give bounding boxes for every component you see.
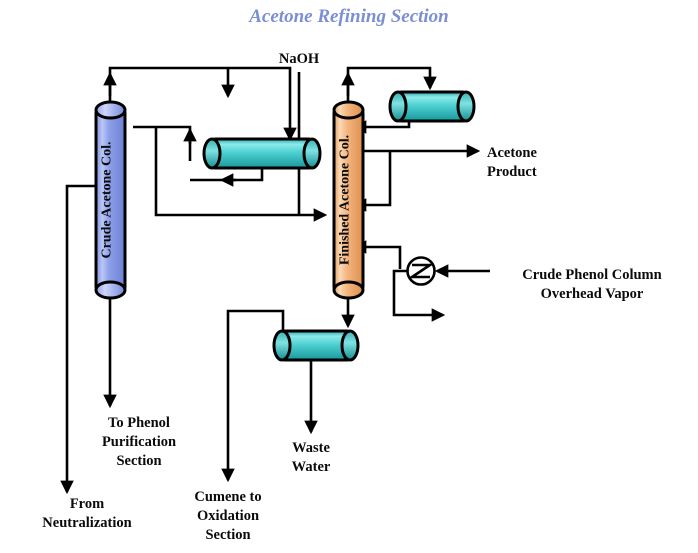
label-naoh: NaOH <box>279 51 320 67</box>
process-flow-diagram: Acetone Refining Section <box>0 0 698 553</box>
crude-overhead-drum-shell <box>212 139 312 168</box>
crude-acetone-column-top-head <box>96 102 125 118</box>
finished-acetone-column-label: Finished Acetone Col. <box>338 135 353 265</box>
waste-water-drum-right-head <box>342 331 358 360</box>
crude-acetone-column-bottom-head <box>96 282 125 298</box>
page-title: Acetone Refining Section <box>248 6 449 27</box>
label-to-phenol-line3: Section <box>116 453 161 469</box>
waste-water-drum-shell <box>282 331 350 360</box>
pipe-crude-overhead-to-drum <box>228 68 290 139</box>
pfd-canvas: Acetone Refining Section <box>0 0 698 553</box>
crude-overhead-drum-right-head <box>304 139 320 168</box>
label-waste-water-line1: Waste <box>292 440 330 456</box>
pipe-crude-side-draw <box>133 127 190 161</box>
finished-overhead-drum-left-head <box>390 92 406 121</box>
label-from-neutralization-line1: From <box>70 496 104 512</box>
label-to-phenol-line2: Purification <box>102 434 176 450</box>
pipe-drum-bottom-return <box>190 168 262 180</box>
waste-water-drum-left-head <box>274 331 290 360</box>
finished-acetone-column-top-head <box>334 102 363 118</box>
label-cumene-line3: Section <box>205 527 250 543</box>
label-from-neutralization-line2: Neutralization <box>42 515 131 531</box>
label-waste-water-line2: Water <box>292 459 331 475</box>
finished-acetone-column[interactable]: Finished Acetone Col. <box>334 102 363 298</box>
label-crude-phenol-line1: Crude Phenol Column <box>522 267 661 283</box>
crude-overhead-drum-left-head <box>204 139 220 168</box>
finished-overhead-drum-shell <box>398 92 466 121</box>
label-to-phenol-line1: To Phenol <box>108 415 170 431</box>
finished-overhead-drum-right-head <box>458 92 474 121</box>
pipe-crude-overhead-top <box>110 68 228 108</box>
label-acetone-product-line2: Product <box>487 164 537 180</box>
label-crude-phenol-line2: Overhead Vapor <box>541 286 644 302</box>
crude-acetone-column[interactable]: Crude Acetone Col. <box>96 102 125 298</box>
label-acetone-product-line1: Acetone <box>487 145 537 161</box>
label-cumene-line1: Cumene to <box>194 489 261 505</box>
finished-acetone-overhead-drum[interactable] <box>390 92 474 121</box>
crude-acetone-column-label: Crude Acetone Col. <box>100 141 115 258</box>
crude-acetone-overhead-drum[interactable] <box>204 139 320 168</box>
reboiler-heat-exchanger[interactable] <box>408 258 435 285</box>
waste-water-decanter[interactable] <box>274 331 358 360</box>
label-cumene-line2: Oxidation <box>197 508 259 524</box>
finished-acetone-column-bottom-head <box>334 282 363 298</box>
